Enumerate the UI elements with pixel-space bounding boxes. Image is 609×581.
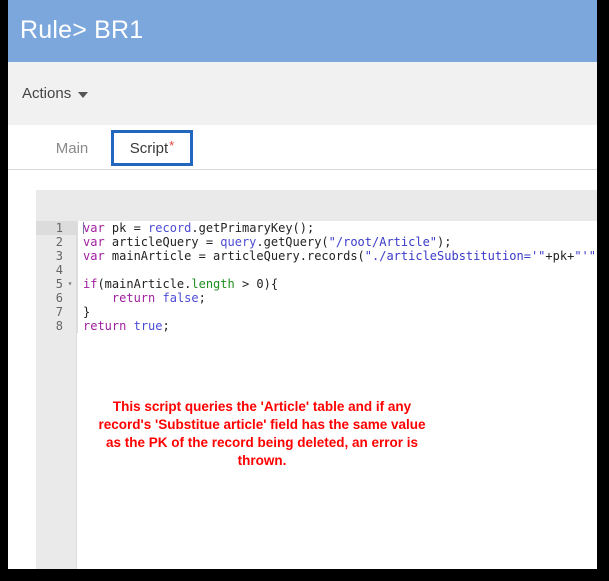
code-token: ; [163, 319, 170, 333]
code-line-text[interactable]: var mainArticle = articleQuery.records("… [77, 249, 597, 263]
code-token: record [148, 221, 191, 235]
code-token: articleQuery = [105, 235, 221, 249]
code-token: "/root/Article" [329, 235, 437, 249]
window-frame: Rule> BR1 Actions Main Script * 1var pk … [0, 0, 609, 581]
line-number[interactable]: 7 [36, 305, 76, 319]
code-token [155, 291, 162, 305]
code-token: .getQuery( [256, 235, 328, 249]
code-token: length [191, 277, 234, 291]
code-token: var [83, 249, 105, 263]
code-token: ); [437, 235, 451, 249]
code-token: ; [199, 291, 206, 305]
code-token: var [83, 235, 105, 249]
code-token: ){ [264, 277, 278, 291]
title-bar: Rule> BR1 [8, 0, 597, 62]
code-token: false [163, 291, 199, 305]
code-token: > [235, 277, 257, 291]
code-token: return [83, 319, 126, 333]
code-line[interactable]: 1var pk = record.getPrimaryKey(); [36, 221, 597, 235]
code-line[interactable]: 4 [36, 263, 597, 277]
code-token: (mainArticle. [97, 277, 191, 291]
code-line-text[interactable]: var articleQuery = query.getQuery("/root… [77, 235, 597, 249]
code-line[interactable]: 2var articleQuery = query.getQuery("/roo… [36, 235, 597, 249]
actions-menu-button[interactable]: Actions [22, 82, 88, 104]
code-line[interactable]: 5▾if(mainArticle.length > 0){ [36, 277, 597, 291]
tab-script[interactable]: Script * [111, 130, 193, 166]
script-editor[interactable]: 1var pk = record.getPrimaryKey();2var ar… [8, 170, 597, 569]
code-line-text[interactable]: return true; [77, 319, 597, 333]
code-token: pk = [105, 221, 148, 235]
code-token: query [220, 235, 256, 249]
code-token: .getPrimaryKey(); [191, 221, 314, 235]
editor-code-lines[interactable]: 1var pk = record.getPrimaryKey();2var ar… [36, 221, 597, 333]
page-body: Rule> BR1 Actions Main Script * 1var pk … [8, 0, 597, 569]
annotation-text: This script queries the 'Article' table … [92, 398, 432, 470]
line-number[interactable]: 2 [36, 235, 76, 249]
line-number[interactable]: 3 [36, 249, 76, 263]
code-token: true [134, 319, 163, 333]
tab-script-label: Script [130, 140, 168, 157]
tab-main-label: Main [56, 140, 89, 157]
tab-main[interactable]: Main [36, 130, 108, 166]
code-line-text[interactable]: if(mainArticle.length > 0){ [77, 277, 597, 291]
code-token: } [83, 305, 90, 319]
chevron-down-icon [78, 92, 88, 98]
code-line-text[interactable]: return false; [77, 291, 597, 305]
code-token [126, 319, 133, 333]
line-number[interactable]: 8 [36, 319, 76, 333]
editor-top-band [36, 190, 597, 221]
line-number[interactable]: 1 [36, 221, 76, 235]
code-line[interactable]: 8return true; [36, 319, 597, 333]
actions-menu-label: Actions [22, 85, 71, 102]
line-number[interactable]: 4 [36, 263, 76, 277]
code-line[interactable]: 6 return false; [36, 291, 597, 305]
code-line[interactable]: 7} [36, 305, 597, 319]
code-token: var [83, 221, 105, 235]
code-token [83, 291, 112, 305]
code-token: 0 [256, 277, 263, 291]
code-token: +pk+ [545, 249, 574, 263]
code-token: if [83, 277, 97, 291]
code-token: mainArticle = articleQuery.records( [105, 249, 365, 263]
tab-strip: Main Script * [8, 125, 597, 170]
code-token: "'" [574, 249, 596, 263]
code-token: "./articleSubstitution='" [365, 249, 546, 263]
actions-toolbar: Actions [8, 62, 597, 125]
fold-toggle-icon[interactable]: ▾ [65, 277, 75, 291]
code-line-text[interactable]: var pk = record.getPrimaryKey(); [77, 221, 597, 235]
code-token: return [112, 291, 155, 305]
code-line-text[interactable] [77, 263, 597, 277]
code-token: ); [596, 249, 597, 263]
tab-modified-indicator: * [169, 139, 174, 152]
page-title: Rule> BR1 [20, 16, 143, 45]
code-line-text[interactable]: } [77, 305, 597, 319]
line-number[interactable]: 6 [36, 291, 76, 305]
code-line[interactable]: 3var mainArticle = articleQuery.records(… [36, 249, 597, 263]
